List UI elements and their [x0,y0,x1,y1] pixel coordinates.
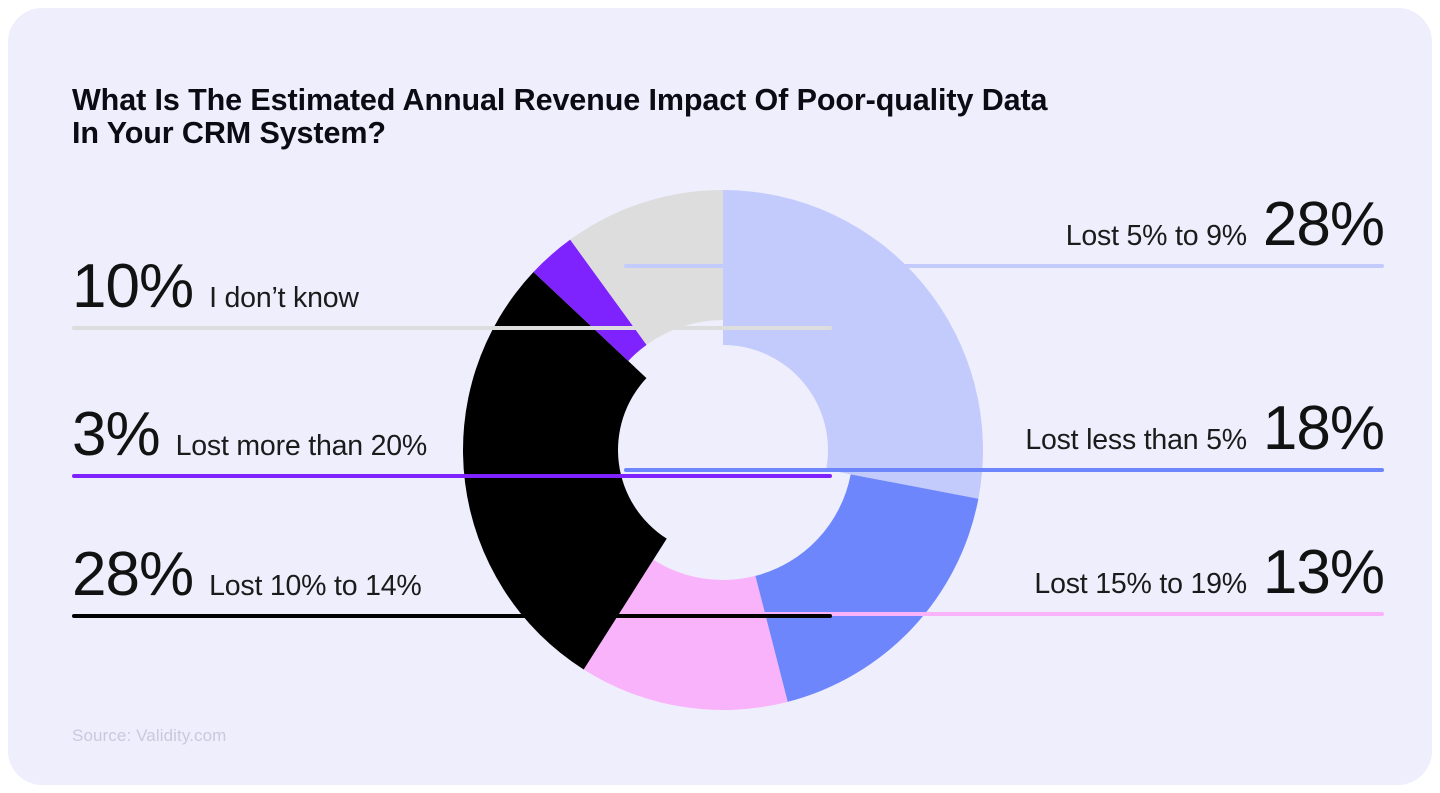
infographic-card: What Is The Estimated Annual Revenue Imp… [8,8,1432,785]
page-title: What Is The Estimated Annual Revenue Imp… [72,84,1082,150]
callout-value: 13% [1263,542,1384,604]
callout-value: 28% [72,544,193,606]
infographic-page: What Is The Estimated Annual Revenue Imp… [0,0,1440,793]
callout-lost-more-than-20: 3% Lost more than 20% [72,404,832,478]
callout-label: Lost 15% to 19% [1034,569,1246,599]
callout-rule [72,474,832,478]
callout-value: 18% [1263,398,1384,460]
callout-label: Lost less than 5% [1025,425,1247,455]
callout-value: 10% [72,256,193,318]
callout-label: Lost 10% to 14% [209,571,421,601]
callout-i-dont-know: 10% I don’t know [72,256,832,330]
callout-value: 28% [1263,194,1384,256]
callout-row: 28% Lost 10% to 14% [72,544,832,608]
callout-value: 3% [72,404,160,466]
callout-label: I don’t know [209,283,359,313]
callout-row: Lost 5% to 9% 28% [624,194,1384,258]
source-caption: Source: Validity.com [72,726,226,746]
callout-label: Lost 5% to 9% [1066,221,1247,251]
callout-row: 10% I don’t know [72,256,832,320]
callout-rule [72,326,832,330]
callout-rule [72,614,832,618]
callout-row: 3% Lost more than 20% [72,404,832,468]
callout-label: Lost more than 20% [176,431,427,461]
callout-lost-10-to-14: 28% Lost 10% to 14% [72,544,832,618]
